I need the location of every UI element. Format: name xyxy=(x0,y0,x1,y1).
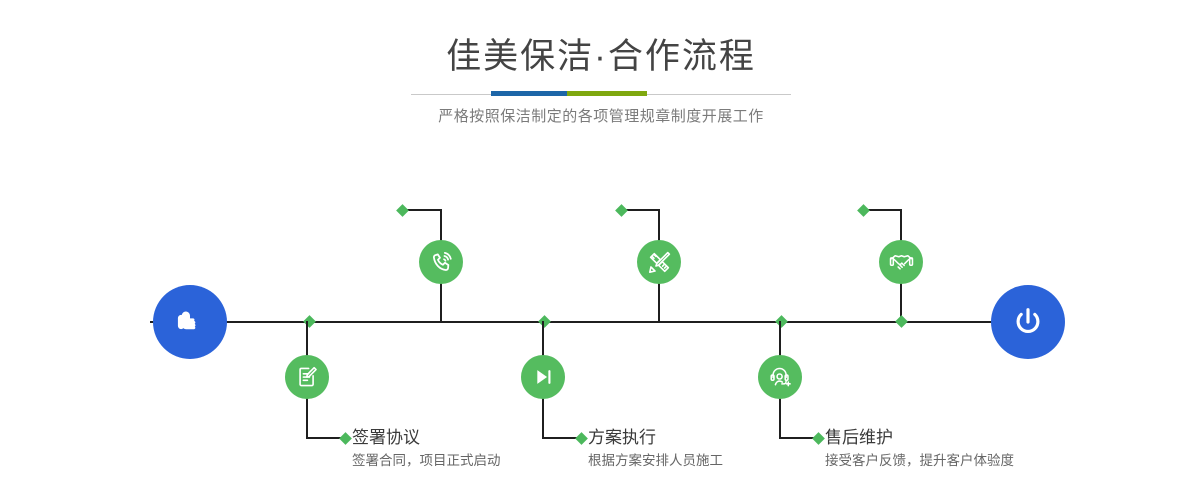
step-4-title: 方案执行 xyxy=(588,427,723,449)
power-icon xyxy=(1009,303,1047,341)
step-6-axis-marker xyxy=(895,315,908,328)
step-6-label: 售后维护 接受客户反馈，提升客户体验度 xyxy=(825,427,1014,471)
handshake-icon xyxy=(888,249,915,276)
step-6-label-marker xyxy=(812,432,825,445)
step-1-label-marker xyxy=(396,204,409,217)
step-3-label-marker xyxy=(615,204,628,217)
step-2-desc: 签署合同，项目正式启动 xyxy=(352,451,501,471)
timeline-axis xyxy=(150,321,1052,323)
step-5-icon-bubble xyxy=(879,240,923,284)
process-timeline: 电话咨询 阐明基本情况和需求 xyxy=(0,0,1202,502)
timeline-end-endpoint xyxy=(991,285,1065,359)
play-skip-icon xyxy=(530,364,556,390)
step-4-label-marker xyxy=(575,432,588,445)
step-2-icon-bubble xyxy=(285,355,329,399)
step-1-icon-bubble xyxy=(419,240,463,284)
step-6-icon-bubble xyxy=(758,355,802,399)
step-4-icon-bubble xyxy=(521,355,565,399)
pointing-hand-icon xyxy=(170,302,210,342)
pencil-ruler-icon xyxy=(646,249,673,276)
document-pen-icon xyxy=(294,364,320,390)
step-6-title: 售后维护 xyxy=(825,427,1014,449)
timeline-start-endpoint xyxy=(153,285,227,359)
step-4-desc: 根据方案安排人员施工 xyxy=(588,451,723,471)
step-2-label: 签署协议 签署合同，项目正式启动 xyxy=(352,427,501,471)
step-3-axis-marker xyxy=(538,315,551,328)
phone-call-icon xyxy=(428,249,455,276)
step-2-label-marker xyxy=(339,432,352,445)
step-5-axis-marker xyxy=(775,315,788,328)
step-2-title: 签署协议 xyxy=(352,427,501,449)
cooperation-process-infographic: 佳美保洁·合作流程 严格按照保洁制定的各项管理规章制度开展工作 xyxy=(0,0,1202,502)
step-5-label-marker xyxy=(857,204,870,217)
step-3-icon-bubble xyxy=(637,240,681,284)
step-6-desc: 接受客户反馈，提升客户体验度 xyxy=(825,451,1014,471)
step-4-label: 方案执行 根据方案安排人员施工 xyxy=(588,427,723,471)
headset-support-icon xyxy=(767,364,793,390)
